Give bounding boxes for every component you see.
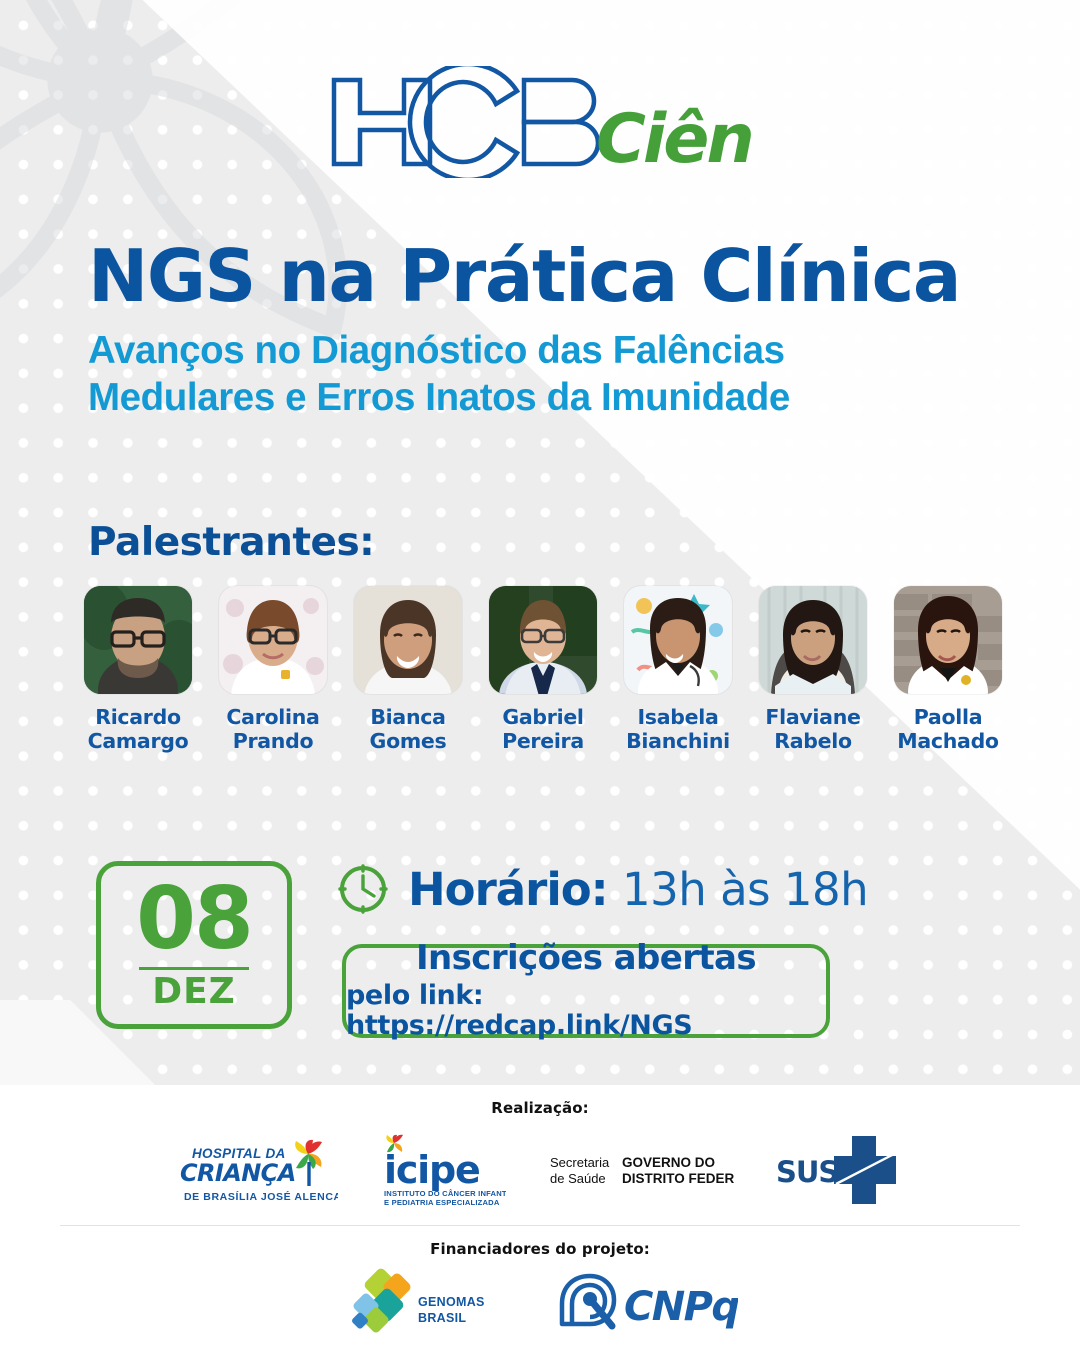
speaker-last-name: Pereira (502, 730, 584, 754)
event-time-row: Horário: 13h às 18h (336, 862, 868, 916)
svg-text:de Saúde: de Saúde (550, 1171, 606, 1186)
hospital-da-crianca-logo: HOSPITAL DA CRIANÇA DE BRASÍLIA JOSÉ ALE… (178, 1134, 338, 1206)
sus-logo: SUS (776, 1134, 902, 1206)
svg-text:INSTITUTO DO CÂNCER INFANTIL: INSTITUTO DO CÂNCER INFANTIL (384, 1189, 506, 1198)
clock-icon (336, 862, 390, 916)
avatar (894, 586, 1002, 694)
speaker-card: Paolla Machado (890, 586, 1006, 754)
speaker-first-name: Paolla (897, 706, 998, 730)
page-title: NGS na Prática Clínica (88, 240, 1040, 312)
speakers-heading: Palestrantes: (88, 520, 374, 565)
hcb-ciencia-logo: Ciência (0, 62, 1080, 182)
registration-headline: Inscrições abertas (416, 941, 756, 977)
svg-text:Ciência: Ciência (596, 100, 752, 178)
realizacao-logos: HOSPITAL DA CRIANÇA DE BRASÍLIA JOSÉ ALE… (0, 1133, 1080, 1207)
speaker-card: Carolina Prando (215, 586, 331, 754)
speaker-last-name: Camargo (88, 730, 189, 754)
speaker-first-name: Carolina (226, 706, 319, 730)
svg-text:CNPq: CNPq (624, 1284, 738, 1330)
subtitle-line-1: Avanços no Diagnóstico das Falências (88, 328, 1040, 375)
svg-text:GOVERNO DO: GOVERNO DO (622, 1155, 715, 1170)
registration-cta[interactable]: Inscrições abertas pelo link: https://re… (342, 944, 830, 1038)
speaker-last-name: Rabelo (765, 730, 860, 754)
governo-df-logo: Secretaria de Saúde GOVERNO DO DISTRITO … (548, 1147, 734, 1193)
title-block: NGS na Prática Clínica Avanços no Diagnó… (0, 240, 1080, 422)
svg-text:GENOMAS: GENOMAS (418, 1295, 485, 1309)
speaker-first-name: Bianca (370, 706, 447, 730)
event-date-day: 08 (136, 880, 252, 959)
svg-text:DE BRASÍLIA JOSÉ ALENCAR: DE BRASÍLIA JOSÉ ALENCAR (184, 1190, 338, 1203)
speaker-first-name: Gabriel (502, 706, 584, 730)
speaker-card: Bianca Gomes (350, 586, 466, 754)
speaker-name: Flaviane Rabelo (765, 706, 860, 754)
realizacao-label: Realização: (0, 1099, 1080, 1117)
speaker-first-name: Isabela (626, 706, 730, 730)
time-value: 13h às 18h (622, 863, 868, 916)
speaker-card: Isabela Bianchini (620, 586, 736, 754)
svg-text:E PEDIATRIA ESPECIALIZADA: E PEDIATRIA ESPECIALIZADA (384, 1198, 500, 1207)
speaker-last-name: Machado (897, 730, 998, 754)
avatar (759, 586, 867, 694)
svg-text:icipe: icipe (384, 1148, 480, 1192)
date-divider (139, 967, 249, 970)
subtitle-line-2: Medulares e Erros Inatos da Imunidade (88, 375, 1040, 422)
avatar (354, 586, 462, 694)
time-label: Horário: (408, 863, 608, 916)
registration-link[interactable]: pelo link: https://redcap.link/NGS (346, 981, 826, 1040)
event-date-badge: 08 DEZ (96, 861, 292, 1029)
footer-divider (60, 1225, 1020, 1226)
event-poster: Ciência NGS na Prática Clínica Avanços n… (0, 0, 1080, 1350)
avatar (624, 586, 732, 694)
avatar (219, 586, 327, 694)
speaker-last-name: Gomes (370, 730, 447, 754)
speaker-card: Ricardo Camargo (80, 586, 196, 754)
financiadores-logos: GENOMAS BRASIL CNPq (0, 1268, 1080, 1334)
speakers-list: Ricardo Camargo (80, 586, 1006, 754)
speaker-card: Gabriel Pereira (485, 586, 601, 754)
genomas-brasil-logo: GENOMAS BRASIL (342, 1268, 494, 1334)
svg-text:Secretaria: Secretaria (550, 1155, 610, 1170)
svg-text:BRASIL: BRASIL (418, 1311, 466, 1325)
speaker-name: Gabriel Pereira (502, 706, 584, 754)
icipe-logo: icipe INSTITUTO DO CÂNCER INFANTIL E PED… (380, 1133, 506, 1207)
speaker-last-name: Bianchini (626, 730, 730, 754)
speaker-name: Bianca Gomes (370, 706, 447, 754)
page-subtitle: Avanços no Diagnóstico das Falências Med… (88, 328, 1040, 422)
svg-text:DISTRITO FEDERAL: DISTRITO FEDERAL (622, 1171, 734, 1186)
speaker-first-name: Flaviane (765, 706, 860, 730)
speaker-first-name: Ricardo (88, 706, 189, 730)
event-time-text: Horário: 13h às 18h (408, 867, 868, 912)
financiadores-label: Financiadores do projeto: (0, 1240, 1080, 1258)
speaker-name: Paolla Machado (897, 706, 998, 754)
speaker-card: Flaviane Rabelo (755, 586, 871, 754)
cnpq-logo: CNPq (552, 1270, 738, 1332)
speaker-last-name: Prando (226, 730, 319, 754)
svg-text:CRIANÇA: CRIANÇA (180, 1159, 296, 1187)
avatar (489, 586, 597, 694)
speaker-name: Ricardo Camargo (88, 706, 189, 754)
speaker-name: Carolina Prando (226, 706, 319, 754)
speaker-name: Isabela Bianchini (626, 706, 730, 754)
avatar (84, 586, 192, 694)
event-date-month: DEZ (152, 974, 236, 1010)
svg-text:SUS: SUS (776, 1155, 838, 1189)
